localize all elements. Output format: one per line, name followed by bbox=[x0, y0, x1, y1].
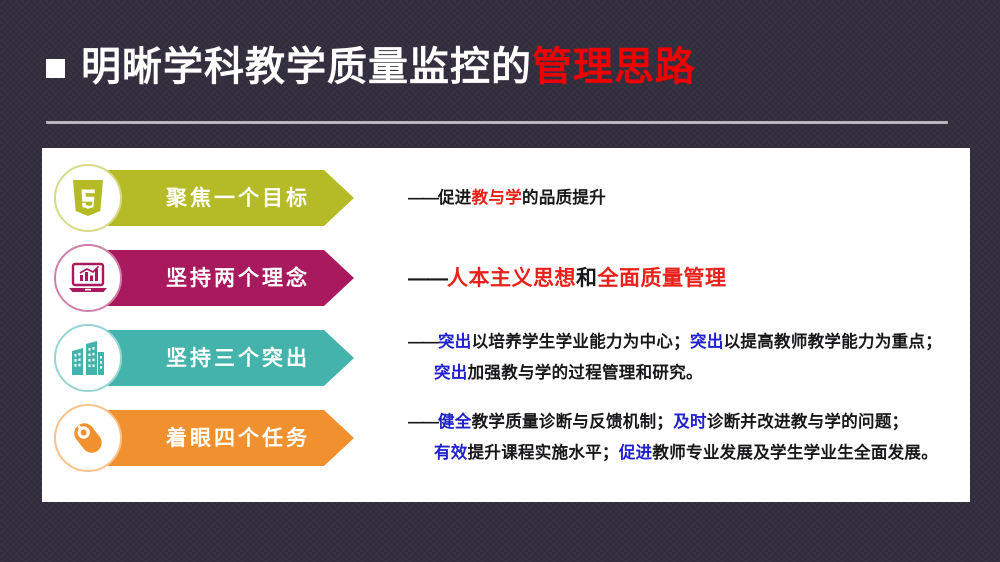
row-desc-1-line-1: ——促进教与学的品质提升 bbox=[408, 183, 962, 214]
square-bullet-icon bbox=[46, 59, 65, 78]
text-segment: 健全 bbox=[438, 413, 472, 431]
title-plain: 明晰学科教学质量监控的 bbox=[81, 45, 532, 89]
text-segment: 促进 bbox=[438, 189, 472, 207]
row-desc-3-line-2: 突出加强教与学的过程管理和研究。 bbox=[408, 358, 962, 389]
row-banner-2[interactable]: 坚持两个理念 bbox=[84, 250, 354, 306]
text-segment: 以提高教师教学能力为重点； bbox=[724, 333, 942, 351]
row-icon-badge-1 bbox=[54, 164, 122, 232]
row-desc-4-line-2: 有效提升课程实施水平；促进教师专业发展及学生学业生全面发展。 bbox=[408, 438, 962, 469]
text-segment: 以培养学生学业能力为中心； bbox=[472, 333, 690, 351]
text-segment: —— bbox=[408, 413, 437, 431]
row-label-4: 着眼四个任务 bbox=[166, 428, 310, 449]
computer-mouse-icon bbox=[69, 419, 107, 457]
row-desc-2-line-1: ——人本主义思想和全面质量管理 bbox=[408, 263, 962, 294]
row-desc-3-line-1: ——突出以培养学生学业能力为中心；突出以提高教师教学能力为重点； bbox=[408, 327, 962, 358]
text-segment: 突出 bbox=[438, 333, 472, 351]
text-segment: 人本主义思想 bbox=[447, 267, 576, 290]
content-row-1: 聚焦一个目标 ——促进教与学的品质提升 bbox=[42, 164, 970, 232]
row-label-3: 坚持三个突出 bbox=[166, 348, 310, 369]
laptop-chart-icon bbox=[69, 262, 107, 294]
row-banner-4[interactable]: 着眼四个任务 bbox=[84, 410, 354, 466]
row-desc-4: ——健全教学质量诊断与反馈机制；及时诊断并改进教与学的问题；有效提升课程实施水平… bbox=[408, 404, 962, 472]
text-segment: 的品质提升 bbox=[522, 189, 606, 207]
text-segment: 和 bbox=[576, 267, 598, 290]
title-text: 明晰学科教学质量监控的管理思路 bbox=[81, 47, 696, 87]
row-desc-1: ——促进教与学的品质提升 bbox=[408, 164, 962, 232]
row-icon-badge-2 bbox=[54, 244, 122, 312]
text-segment: 突出 bbox=[690, 333, 724, 351]
text-segment: 教与学 bbox=[472, 189, 522, 207]
row-label-1: 聚焦一个目标 bbox=[166, 188, 310, 209]
content-row-2: 坚持两个理念 ——人本主义思想和全面质量管理 bbox=[42, 244, 970, 312]
row-desc-2: ——人本主义思想和全面质量管理 bbox=[408, 244, 962, 312]
title-divider bbox=[46, 121, 948, 124]
text-segment: 诊断并改进教与学的问题； bbox=[707, 413, 909, 431]
text-segment: 突出 bbox=[408, 364, 468, 382]
page-title: 明晰学科教学质量监控的管理思路 bbox=[46, 47, 696, 87]
text-segment: 教师专业发展及学生学业生全面发展。 bbox=[652, 444, 938, 462]
buildings-icon bbox=[70, 340, 106, 376]
text-segment: 全面质量管理 bbox=[598, 267, 727, 290]
row-banner-1[interactable]: 聚焦一个目标 bbox=[84, 170, 354, 226]
title-highlight: 管理思路 bbox=[532, 45, 696, 89]
row-desc-4-line-1: ——健全教学质量诊断与反馈机制；及时诊断并改进教与学的问题； bbox=[408, 407, 962, 438]
text-segment: —— bbox=[408, 267, 446, 290]
row-label-2: 坚持两个理念 bbox=[166, 268, 310, 289]
content-panel: 聚焦一个目标 ——促进教与学的品质提升 坚持两个理念 bbox=[42, 148, 970, 502]
row-icon-badge-3 bbox=[54, 324, 122, 392]
text-segment: 促进 bbox=[619, 444, 653, 462]
text-segment: —— bbox=[408, 189, 437, 207]
row-icon-badge-4 bbox=[54, 404, 122, 472]
text-segment: 提升课程实施水平； bbox=[468, 444, 619, 462]
text-segment: 加强教与学的过程管理和研究。 bbox=[468, 364, 703, 382]
text-segment: —— bbox=[408, 333, 437, 351]
content-row-4: 着眼四个任务 ——健全教学质量诊断与反馈机制；及时诊断并改进教与学的问题；有效提… bbox=[42, 404, 970, 472]
row-desc-3: ——突出以培养学生学业能力为中心；突出以提高教师教学能力为重点；突出加强教与学的… bbox=[408, 324, 962, 392]
text-segment: 及时 bbox=[673, 413, 707, 431]
text-segment: 有效 bbox=[408, 444, 468, 462]
content-row-3: 坚持三个突出 ——突出以培养学生 bbox=[42, 324, 970, 392]
text-segment: 教学质量诊断与反馈机制； bbox=[472, 413, 674, 431]
row-banner-3[interactable]: 坚持三个突出 bbox=[84, 330, 354, 386]
html5-shield-5-icon bbox=[71, 180, 105, 216]
